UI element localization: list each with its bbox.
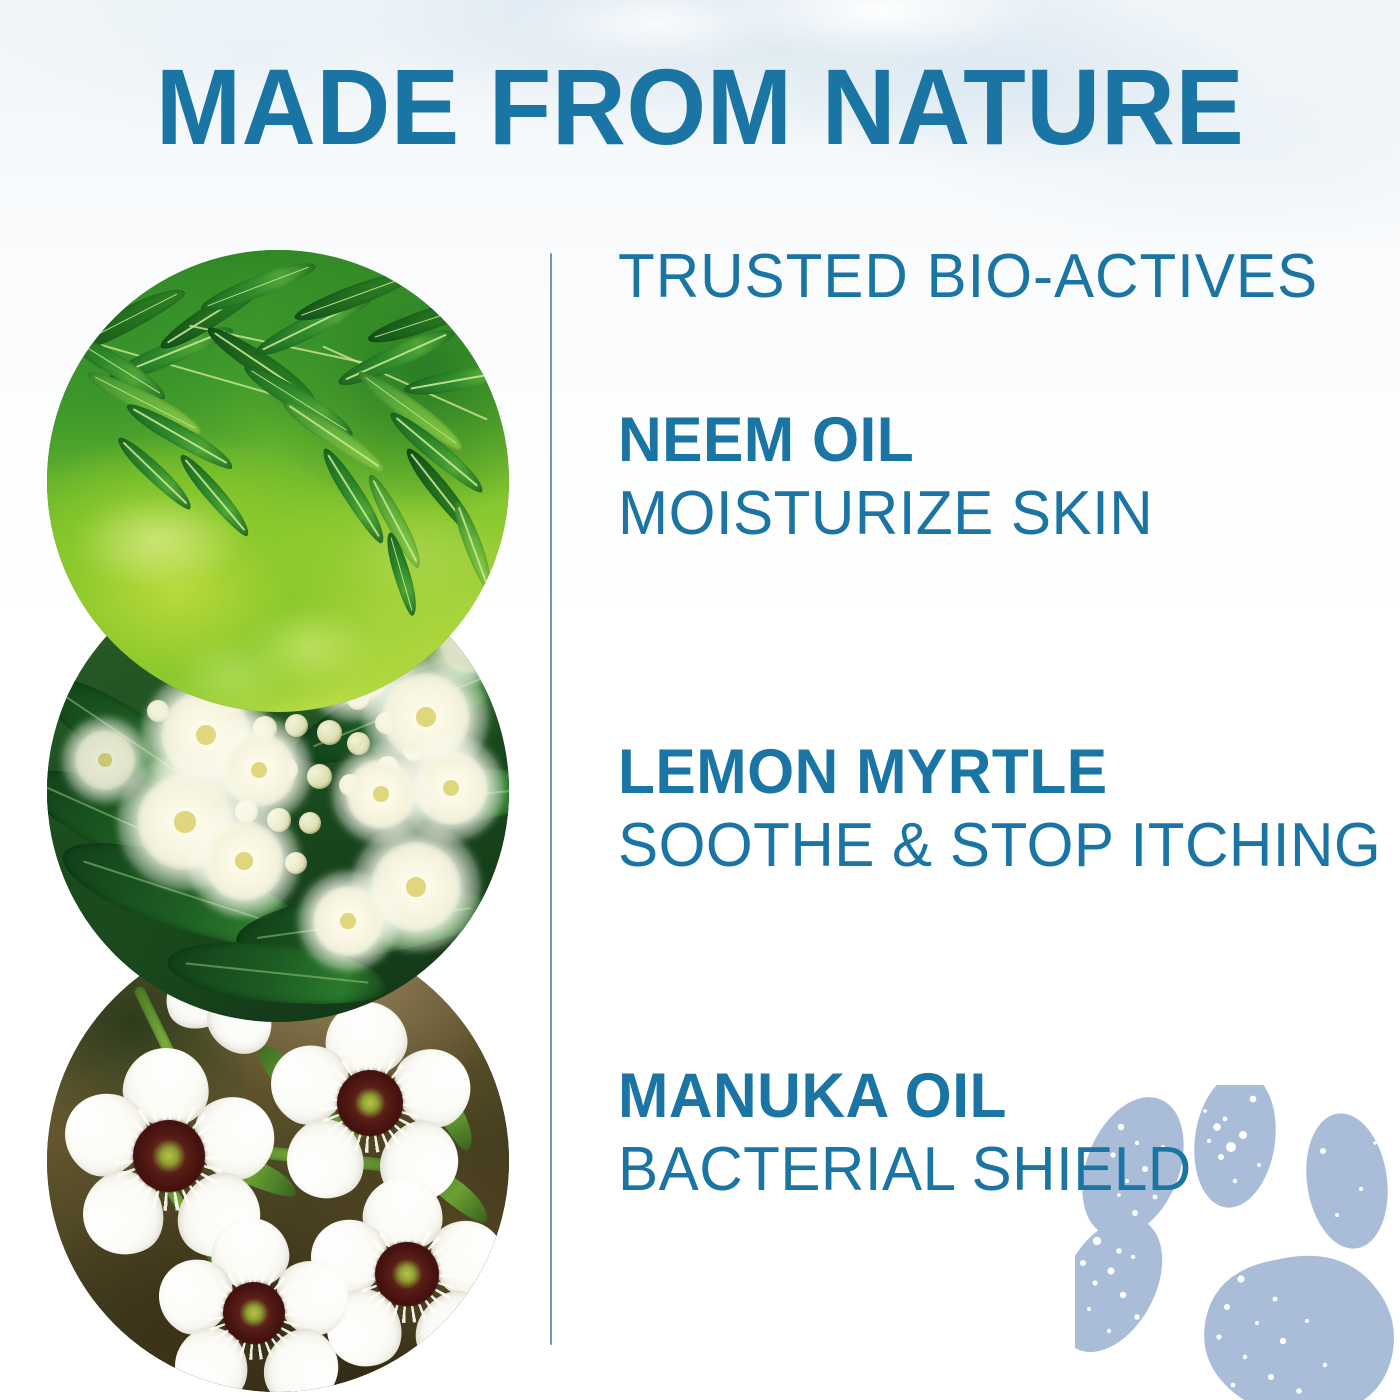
page-title: MADE FROM NATURE xyxy=(35,52,1365,162)
ingredient-block-manuka: MANUKA OIL BACTERIAL SHIELD xyxy=(618,1064,1378,1204)
ingredient-name: MANUKA OIL xyxy=(618,1064,1348,1129)
kicker-text: TRUSTED BIO-ACTIVES xyxy=(618,246,1297,308)
ingredient-name: LEMON MYRTLE xyxy=(618,740,1348,805)
ingredient-image-neem xyxy=(47,250,509,712)
ingredient-benefit: BACTERIAL SHIELD xyxy=(618,1135,1355,1204)
ingredient-block-neem: NEEM OIL MOISTURIZE SKIN xyxy=(618,408,1378,548)
ingredient-block-lemon-myrtle: LEMON MYRTLE SOOTHE & STOP ITCHING xyxy=(618,740,1378,880)
ingredient-benefit: MOISTURIZE SKIN xyxy=(618,479,1355,548)
ingredient-name: NEEM OIL xyxy=(618,408,1348,473)
ingredient-benefit: SOOTHE & STOP ITCHING xyxy=(618,811,1355,880)
vertical-divider xyxy=(550,253,552,1345)
made-from-nature-graphic: MADE FROM NATURE xyxy=(0,0,1400,1400)
